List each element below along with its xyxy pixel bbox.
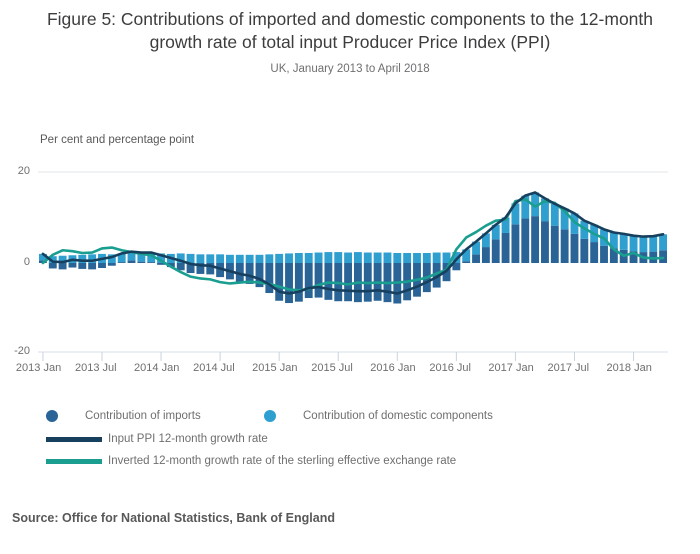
bar-imports bbox=[78, 263, 86, 269]
bar-domestic bbox=[216, 254, 224, 263]
bar-domestic bbox=[659, 234, 667, 250]
bar-domestic bbox=[502, 218, 510, 233]
bar-domestic bbox=[580, 221, 588, 239]
y-tick-label-2: -20 bbox=[0, 345, 30, 357]
bar-imports bbox=[561, 229, 569, 263]
bar-domestic bbox=[511, 203, 519, 224]
y-tick-label-1: 0 bbox=[0, 256, 30, 268]
bar-imports bbox=[305, 263, 313, 298]
bar-domestic bbox=[551, 204, 559, 226]
bar-domestic bbox=[443, 253, 451, 263]
bar-imports bbox=[374, 263, 382, 301]
bar-domestic bbox=[196, 254, 204, 263]
bar-domestic bbox=[541, 198, 549, 221]
bar-domestic bbox=[59, 256, 67, 263]
x-tick-label-3: 2014 Jul bbox=[193, 362, 235, 374]
bar-imports bbox=[630, 251, 638, 263]
bar-domestic bbox=[433, 253, 441, 263]
bar-domestic bbox=[639, 237, 647, 252]
bar-imports bbox=[49, 263, 57, 268]
bar-imports bbox=[137, 262, 145, 263]
bar-imports bbox=[118, 262, 126, 263]
bar-imports bbox=[571, 234, 579, 263]
bar-domestic bbox=[413, 253, 421, 263]
bar-imports bbox=[324, 263, 332, 300]
y-axis-title: Per cent and percentage point bbox=[40, 134, 194, 146]
bar-imports bbox=[403, 263, 411, 300]
bar-imports bbox=[236, 263, 244, 282]
x-tick-label-2: 2014 Jan bbox=[134, 362, 179, 374]
bar-imports bbox=[157, 263, 165, 265]
bar-domestic bbox=[472, 242, 480, 255]
bar-domestic bbox=[177, 253, 185, 263]
bar-domestic bbox=[167, 254, 175, 263]
x-tick-label-4: 2015 Jan bbox=[252, 362, 297, 374]
bar-imports bbox=[295, 263, 303, 302]
bar-imports bbox=[452, 263, 460, 270]
bar-imports bbox=[472, 254, 480, 263]
bar-domestic bbox=[69, 255, 77, 263]
bar-domestic bbox=[285, 253, 293, 263]
x-tick-label-0: 2013 Jan bbox=[16, 362, 61, 374]
bar-imports bbox=[196, 263, 204, 274]
bar-domestic bbox=[147, 253, 155, 263]
x-tick-label-10: 2018 Jan bbox=[607, 362, 652, 374]
bar-domestic bbox=[206, 254, 214, 263]
bar-domestic bbox=[571, 213, 579, 233]
bar-imports bbox=[659, 250, 667, 263]
bar-domestic bbox=[265, 254, 273, 263]
bar-imports bbox=[69, 263, 77, 268]
x-tick-label-6: 2016 Jan bbox=[370, 362, 415, 374]
bar-imports bbox=[492, 239, 500, 263]
bar-domestic bbox=[521, 196, 529, 219]
bar-domestic bbox=[88, 254, 96, 263]
bar-imports bbox=[384, 263, 392, 302]
bar-imports bbox=[364, 263, 372, 302]
bar-domestic bbox=[39, 254, 47, 260]
bar-imports bbox=[285, 263, 293, 303]
bar-domestic bbox=[275, 254, 283, 263]
bar-imports bbox=[502, 233, 510, 263]
bar-imports bbox=[108, 263, 116, 266]
bar-imports bbox=[59, 263, 67, 269]
bar-imports bbox=[610, 248, 618, 263]
legend-label-ppi-line: Input PPI 12-month growth rate bbox=[108, 433, 268, 445]
legend-item-imports: Contribution of imports bbox=[46, 410, 264, 422]
bar-domestic bbox=[600, 229, 608, 245]
bar-domestic bbox=[561, 208, 569, 229]
bar-imports bbox=[98, 263, 106, 268]
legend-swatch-sterling-line-icon bbox=[46, 459, 102, 464]
bar-imports bbox=[256, 263, 264, 287]
bar-imports bbox=[600, 246, 608, 263]
bar-imports bbox=[521, 218, 529, 263]
bar-group bbox=[39, 192, 667, 303]
x-tick-label-7: 2016 Jul bbox=[429, 362, 471, 374]
bar-domestic bbox=[423, 253, 431, 263]
bar-imports bbox=[443, 263, 451, 281]
bar-imports bbox=[423, 263, 431, 292]
bar-imports bbox=[147, 262, 155, 263]
x-tick-label-1: 2013 Jul bbox=[75, 362, 117, 374]
bar-domestic bbox=[590, 225, 598, 242]
bar-domestic bbox=[531, 192, 539, 216]
bar-imports bbox=[334, 263, 342, 301]
bar-domestic bbox=[108, 254, 116, 263]
bar-imports bbox=[620, 250, 628, 263]
bar-domestic bbox=[49, 256, 57, 263]
bar-imports bbox=[88, 263, 96, 269]
bar-imports bbox=[531, 216, 539, 263]
legend-swatch-imports-dot-icon bbox=[46, 410, 58, 422]
bar-domestic bbox=[649, 236, 657, 251]
bar-domestic bbox=[187, 254, 195, 263]
source-note: Source: Office for National Statistics, … bbox=[12, 511, 335, 525]
bar-imports bbox=[511, 224, 519, 263]
bar-domestic bbox=[334, 252, 342, 263]
bar-domestic bbox=[226, 255, 234, 263]
bar-imports bbox=[275, 263, 283, 301]
bar-imports bbox=[177, 263, 185, 270]
bar-domestic bbox=[236, 255, 244, 263]
chart-subtitle: UK, January 2013 to April 2018 bbox=[0, 63, 700, 75]
bar-imports bbox=[246, 263, 254, 284]
bar-domestic bbox=[384, 253, 392, 263]
legend-label-domestic: Contribution of domestic components bbox=[303, 410, 493, 422]
bar-domestic bbox=[315, 253, 323, 263]
bar-domestic bbox=[305, 253, 313, 263]
bar-imports bbox=[649, 252, 657, 263]
legend-swatch-ppi-line-icon bbox=[46, 437, 102, 442]
bar-domestic bbox=[492, 225, 500, 240]
chart-title: Figure 5: Contributions of imported and … bbox=[0, 0, 700, 54]
bar-domestic bbox=[354, 252, 362, 263]
bar-imports bbox=[226, 263, 234, 279]
bar-domestic bbox=[246, 255, 254, 263]
bar-domestic bbox=[403, 253, 411, 263]
bar-domestic bbox=[98, 254, 106, 263]
bar-imports bbox=[590, 242, 598, 263]
bar-domestic bbox=[393, 253, 401, 263]
bar-domestic bbox=[157, 253, 165, 263]
legend-label-sterling-line: Inverted 12-month growth rate of the ste… bbox=[108, 455, 456, 467]
bar-domestic bbox=[630, 236, 638, 251]
bar-domestic bbox=[620, 234, 628, 250]
bar-domestic bbox=[295, 253, 303, 263]
bar-imports bbox=[541, 221, 549, 263]
bar-imports bbox=[639, 252, 647, 263]
bar-imports bbox=[315, 263, 323, 298]
bar-domestic bbox=[78, 255, 86, 263]
x-tick-label-9: 2017 Jul bbox=[547, 362, 589, 374]
bar-domestic bbox=[462, 249, 470, 261]
y-tick-label-0: 20 bbox=[0, 165, 30, 177]
bar-imports bbox=[551, 226, 559, 263]
legend-swatch-domestic-dot-icon bbox=[264, 410, 276, 422]
bar-domestic bbox=[344, 253, 352, 263]
bar-imports bbox=[344, 263, 352, 301]
bar-imports bbox=[265, 263, 273, 293]
bar-domestic bbox=[256, 255, 264, 263]
bar-imports bbox=[413, 263, 421, 297]
line-sterling bbox=[43, 199, 663, 290]
bar-imports bbox=[393, 263, 401, 303]
bar-imports bbox=[433, 263, 441, 288]
bar-imports bbox=[187, 263, 195, 273]
bar-imports bbox=[580, 239, 588, 263]
bar-imports bbox=[216, 263, 224, 277]
x-tick-label-8: 2017 Jan bbox=[488, 362, 533, 374]
bar-imports bbox=[482, 247, 490, 263]
bar-domestic bbox=[610, 233, 618, 249]
bar-imports bbox=[354, 263, 362, 302]
line-ppi bbox=[43, 192, 663, 293]
legend-item-sterling-line: Inverted 12-month growth rate of the ste… bbox=[46, 455, 456, 467]
legend-item-ppi-line: Input PPI 12-month growth rate bbox=[46, 433, 268, 445]
bar-imports bbox=[206, 263, 214, 274]
bar-domestic bbox=[364, 253, 372, 263]
bar-domestic bbox=[137, 253, 145, 262]
bar-domestic bbox=[452, 252, 460, 263]
bar-imports bbox=[128, 260, 136, 263]
chart-legend: Contribution of imports Contribution of … bbox=[46, 404, 666, 472]
x-tick-label-5: 2015 Jul bbox=[311, 362, 353, 374]
bar-imports bbox=[167, 263, 175, 267]
legend-item-domestic: Contribution of domestic components bbox=[264, 410, 493, 422]
bar-domestic bbox=[482, 233, 490, 247]
bar-domestic bbox=[324, 252, 332, 263]
bar-imports bbox=[462, 261, 470, 263]
bar-domestic bbox=[128, 252, 136, 261]
legend-label-imports: Contribution of imports bbox=[85, 410, 201, 422]
bar-domestic bbox=[374, 253, 382, 263]
bar-imports bbox=[39, 260, 47, 263]
bar-domestic bbox=[118, 253, 126, 262]
